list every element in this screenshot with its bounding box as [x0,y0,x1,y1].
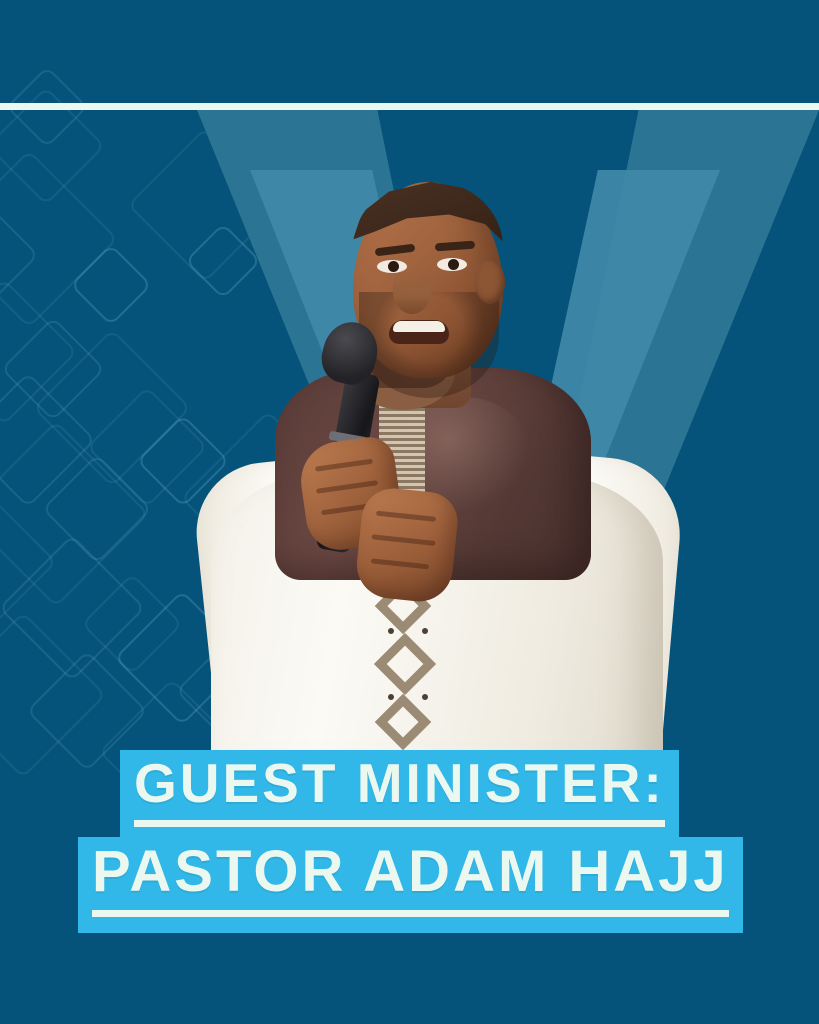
title-line-2: PASTOR ADAM HAJJ [92,843,729,901]
diamond-shape [0,197,39,313]
diamond-shape [0,497,57,627]
diamond-shape [0,421,149,608]
knuckle [371,534,435,546]
title-line-2-underline [92,910,729,917]
diamond-shape [0,534,146,681]
embroidery-dot [422,694,428,700]
embroidery-dot [422,628,428,634]
knuckle [376,511,436,522]
poster-canvas: GUEST MINISTER: PASTOR ADAM HAJJ [0,0,819,1024]
eye-right [437,258,467,271]
diamond-shape [0,372,96,508]
title-line-1-underline [134,820,665,827]
nose [393,268,431,314]
diamond-shape [0,150,118,328]
pupil-left [388,261,399,272]
diamond-shape [33,329,191,487]
diamond-shape [42,454,152,564]
knuckle [371,558,429,569]
knuckle [316,480,378,494]
diamond-shape [0,278,78,425]
embroidery-diamond [374,633,436,695]
title-line-1-highlight: GUEST MINISTER: [120,750,679,837]
mouth [389,320,449,344]
title-block: GUEST MINISTER: PASTOR ADAM HAJJ [0,750,819,933]
diamond-shape [70,244,152,326]
pupil-right [448,259,459,270]
hand-lower [354,485,461,604]
title-line-1: GUEST MINISTER: [134,756,665,811]
speaker-photo [183,172,683,792]
embroidery-diamond [375,694,432,751]
top-accent-stripe [0,103,819,110]
ear [475,260,505,304]
knuckle [315,459,373,472]
embroidery-dot [388,694,394,700]
embroidery-dot [388,628,394,634]
diamond-shape [81,573,183,675]
title-line-2-highlight: PASTOR ADAM HAJJ [78,837,743,933]
diamond-shape [1,317,106,422]
teeth [393,321,445,332]
